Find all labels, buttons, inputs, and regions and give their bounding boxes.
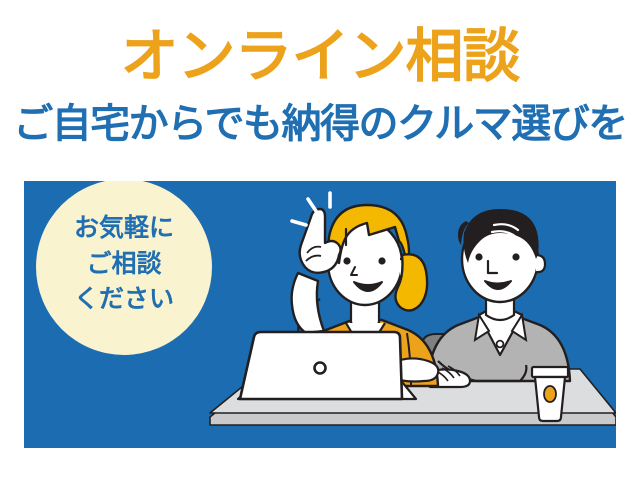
woman-eye-left — [343, 257, 350, 264]
man-eye-right — [512, 253, 519, 260]
page-title: オンライン相談 — [0, 28, 640, 86]
man-figure — [426, 209, 570, 387]
illustration-panel: お気軽に ご相談 ください — [24, 181, 616, 448]
online-consultation-banner: オンライン相談 ご自宅からでも納得のクルマ選びを — [0, 0, 640, 480]
laptop-logo-icon — [315, 363, 326, 374]
header: オンライン相談 ご自宅からでも納得のクルマ選びを — [0, 0, 640, 176]
page-subtitle: ご自宅からでも納得のクルマ選びを — [0, 104, 640, 144]
illustration-scene — [24, 181, 616, 448]
cup-logo-icon — [544, 386, 556, 402]
badge-circle — [36, 181, 212, 355]
woman-eye-right — [378, 257, 385, 264]
man-eye-left — [475, 253, 482, 260]
laptop — [238, 332, 416, 399]
woman-forearm — [292, 273, 324, 333]
woman-hand-pointing — [300, 209, 341, 273]
